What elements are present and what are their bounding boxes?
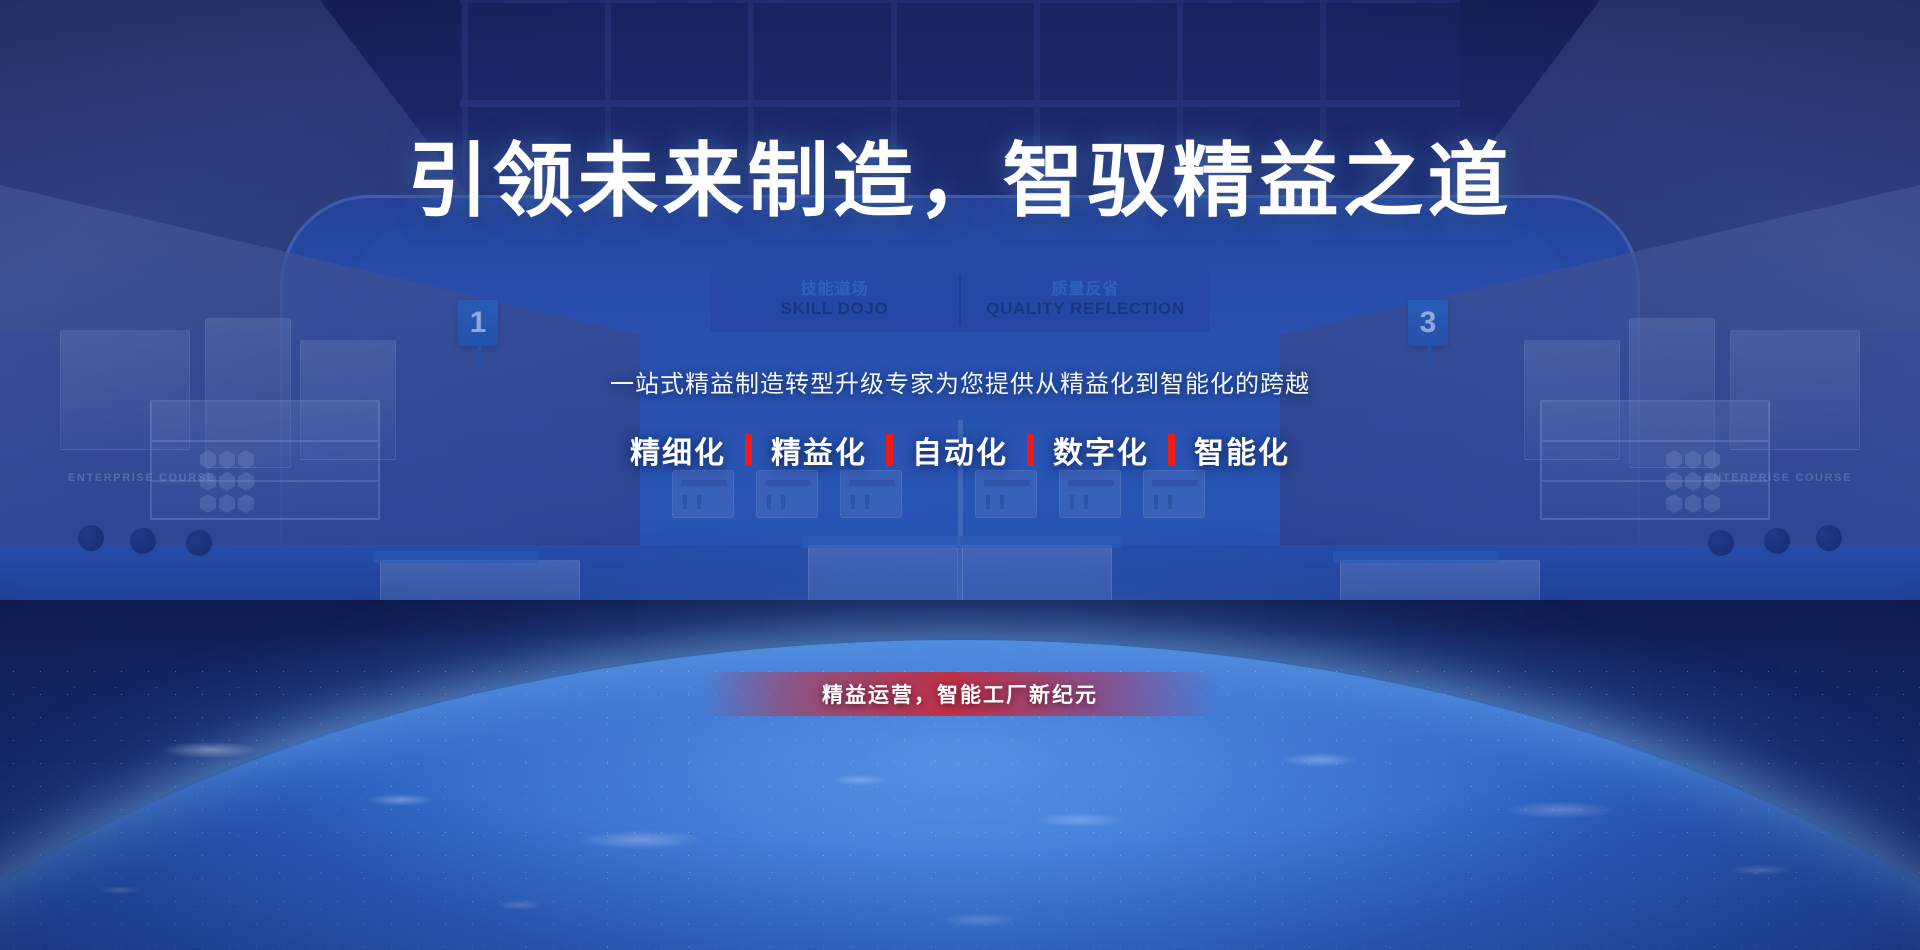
hero-subtitle: 一站式精益制造转型升级专家为您提供从精益化到智能化的跨越 [0,364,1920,399]
hero-banner: 技能道场 SKILL DOJO 质量反省 QUALITY REFLECTION … [0,0,1920,950]
keyword-item: 自动化 [912,428,1008,472]
keyword-item: 智能化 [1194,428,1290,472]
hero-keyword-row: 精细化 精益化 自动化 数字化 智能化 [0,428,1920,472]
keyword-separator-icon [1168,434,1175,466]
bottom-ribbon-banner: 精益运营，智能工厂新纪元 [700,672,1220,716]
hero-content: 引领未来制造，智驭精益之道 一站式精益制造转型升级专家为您提供从精益化到智能化的… [0,0,1920,950]
keyword-separator-icon [745,434,752,466]
keyword-separator-icon [1027,434,1034,466]
keyword-item: 数字化 [1053,428,1149,472]
hero-title: 引领未来制造，智驭精益之道 [0,142,1920,223]
keyword-separator-icon [886,434,893,466]
keyword-item: 精细化 [630,428,726,472]
ribbon-text: 精益运营，智能工厂新纪元 [822,679,1098,709]
keyword-item: 精益化 [771,428,867,472]
